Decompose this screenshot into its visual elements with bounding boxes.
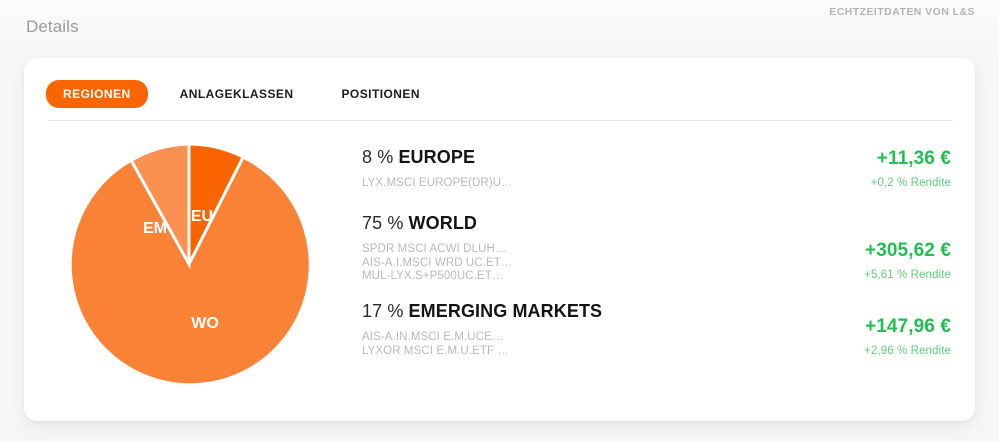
region-heading: 75 % WORLD: [362, 212, 513, 234]
region-return: +2,96 % Rendite: [864, 345, 951, 357]
region-return: +0,2 % Rendite: [871, 177, 951, 189]
region-list: 8 % EUROPE LYX.MSCI EUROPE(DR)U… +11,36 …: [354, 130, 975, 421]
holdings-list: AIS-A.IN.MSCI E.M.UCE… LYXOR MSCI E.M.U.…: [362, 331, 602, 358]
region-amount: +147,96 €: [865, 316, 951, 338]
holding-item[interactable]: AIS-A.IN.MSCI E.M.UCE…: [362, 331, 602, 345]
pie-label-eu: EU: [191, 208, 213, 225]
tab-bar: REGIONEN ANLAGEKLASSEN POSITIONEN: [46, 80, 420, 108]
page-title: Details: [26, 17, 79, 37]
region-amount: +305,62 €: [865, 240, 951, 262]
region-percent: 17 %: [362, 301, 403, 321]
region-amount: +11,36 €: [877, 148, 951, 170]
pie-label-em: EM: [143, 220, 167, 237]
holding-item[interactable]: AIS-A.I.MSCI WRD UC.ET…: [362, 257, 513, 271]
region-performance: +305,62 € +5,61 % Rendite: [864, 212, 951, 281]
region-row-europe[interactable]: 8 % EUROPE LYX.MSCI EUROPE(DR)U… +11,36 …: [362, 146, 951, 191]
tab-regionen[interactable]: REGIONEN: [46, 80, 148, 108]
top-bar: Details ECHTZEITDATEN VON L&S: [0, 0, 999, 50]
holding-item[interactable]: MUL-LYX.S+P500UC.ET…: [362, 270, 513, 284]
holdings-list: LYX.MSCI EUROPE(DR)U…: [362, 177, 513, 191]
pie-svg: EU WO EM: [69, 144, 309, 384]
details-card: REGIONEN ANLAGEKLASSEN POSITIONEN EU WO …: [24, 58, 975, 421]
pie-label-wo: WO: [191, 315, 219, 332]
region-name: EUROPE: [398, 147, 475, 167]
holding-item[interactable]: LYX.MSCI EUROPE(DR)U…: [362, 177, 513, 191]
tab-anlageklassen[interactable]: ANLAGEKLASSEN: [180, 80, 294, 108]
region-name: WORLD: [409, 213, 477, 233]
region-heading: 8 % EUROPE: [362, 146, 513, 168]
realtime-data-note: ECHTZEITDATEN VON L&S: [829, 6, 975, 18]
region-row-emerging-markets[interactable]: 17 % EMERGING MARKETS AIS-A.IN.MSCI E.M.…: [362, 300, 951, 358]
allocation-pie-chart: EU WO EM: [24, 130, 354, 421]
region-performance: +11,36 € +0,2 % Rendite: [871, 146, 951, 189]
region-info: 8 % EUROPE LYX.MSCI EUROPE(DR)U…: [362, 146, 513, 191]
holding-item[interactable]: LYXOR MSCI E.M.U.ETF …: [362, 345, 602, 359]
region-return: +5,61 % Rendite: [864, 269, 951, 281]
holding-item[interactable]: SPDR MSCI ACWI DLUH…: [362, 243, 513, 257]
region-percent: 75 %: [362, 213, 403, 233]
card-body: EU WO EM 8 % EUROPE LYX.MSCI EUROPE(DR)U…: [24, 130, 975, 421]
region-info: 17 % EMERGING MARKETS AIS-A.IN.MSCI E.M.…: [362, 300, 602, 358]
region-info: 75 % WORLD SPDR MSCI ACWI DLUH… AIS-A.I.…: [362, 212, 513, 284]
holdings-list: SPDR MSCI ACWI DLUH… AIS-A.I.MSCI WRD UC…: [362, 243, 513, 284]
tab-divider: [48, 120, 953, 121]
region-name: EMERGING MARKETS: [409, 301, 603, 321]
tab-positionen[interactable]: POSITIONEN: [341, 80, 420, 108]
region-row-world[interactable]: 75 % WORLD SPDR MSCI ACWI DLUH… AIS-A.I.…: [362, 212, 951, 284]
region-heading: 17 % EMERGING MARKETS: [362, 300, 602, 322]
region-percent: 8 %: [362, 147, 393, 167]
region-performance: +147,96 € +2,96 % Rendite: [864, 300, 951, 357]
